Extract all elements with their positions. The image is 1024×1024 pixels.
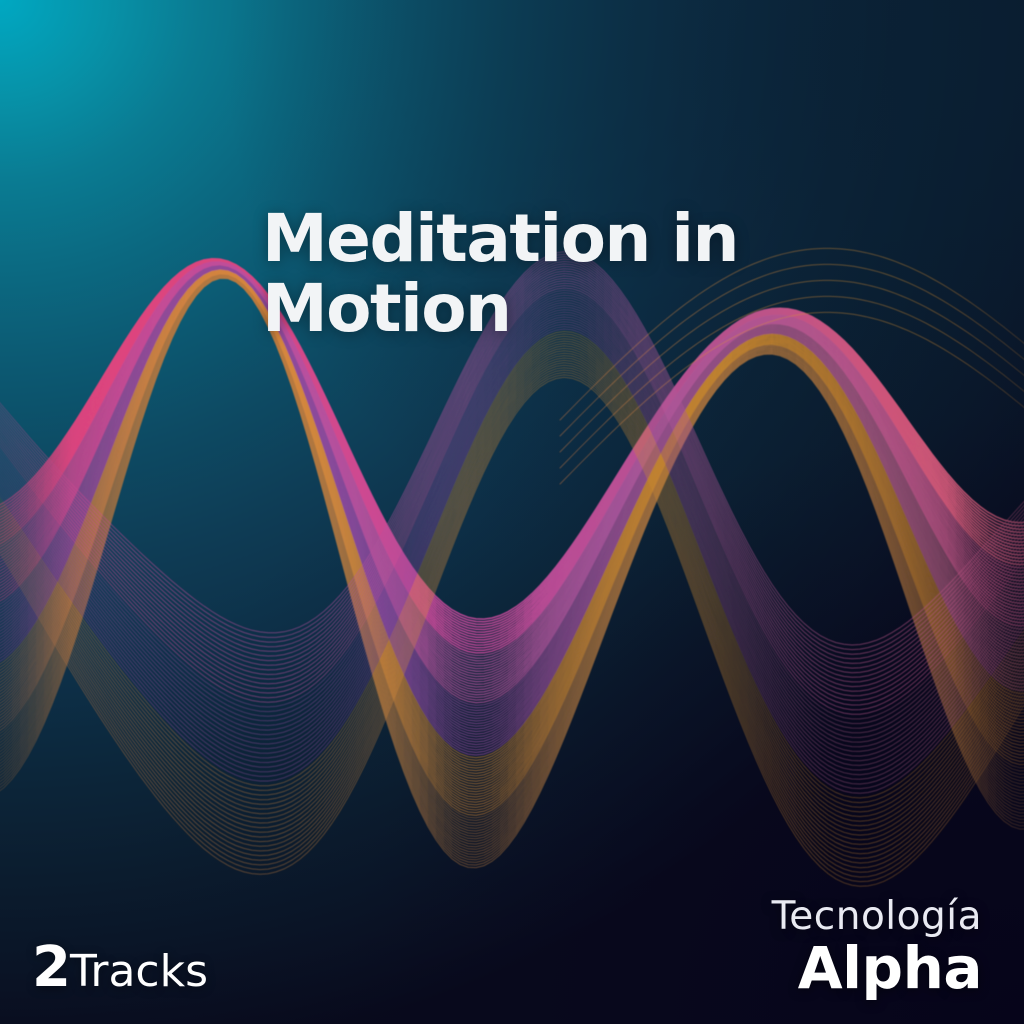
title-line-1: Meditation in <box>262 204 782 274</box>
track-count-number: 2 <box>32 935 70 1000</box>
text-layer: Meditation in Motion 2Tracks Tecnología … <box>0 0 1024 1024</box>
brand-lockup: Tecnología Alpha <box>772 897 982 998</box>
title-line-2: Motion <box>262 274 782 344</box>
album-cover: Meditation in Motion 2Tracks Tecnología … <box>0 0 1024 1024</box>
brand-label: Tecnología <box>772 897 982 937</box>
brand-name: Alpha <box>772 939 982 998</box>
track-count: 2Tracks <box>32 940 208 996</box>
page-title: Meditation in Motion <box>262 204 782 344</box>
track-count-label: Tracks <box>70 946 208 997</box>
